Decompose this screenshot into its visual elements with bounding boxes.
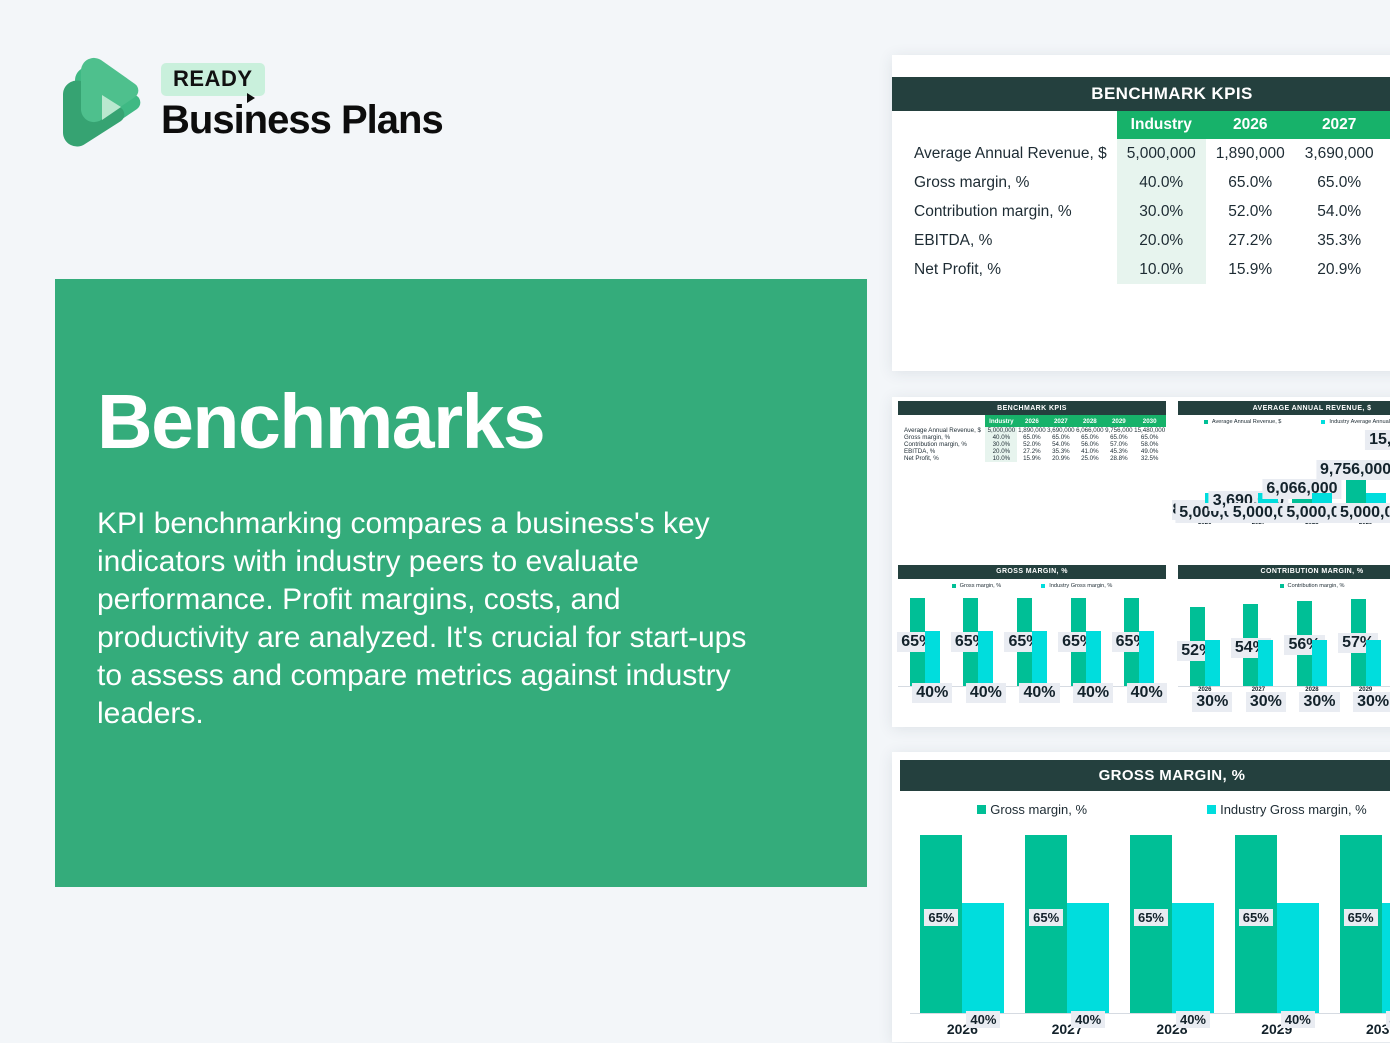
bar: 40% — [978, 631, 993, 685]
bar-value-label: 30% — [1192, 692, 1232, 712]
kpi-cell: 65.0% — [1206, 168, 1295, 197]
kpi-col-2030: 2030 — [1133, 415, 1166, 427]
bar: 65% — [1124, 598, 1139, 686]
benchmark-kpi-card: BENCHMARK KPIS Industry20262027202820292… — [892, 55, 1390, 371]
kpi-row-label: Average Annual Revenue, $ — [900, 139, 1117, 168]
kpi-header-row: Industry20262027202820292030 — [900, 111, 1390, 139]
brand-name-text: Business Plans — [161, 98, 443, 142]
bar-value-label: 40% — [1019, 683, 1059, 703]
bar: 5,000,000 — [1312, 493, 1332, 519]
legend-swatch-cyan — [1041, 584, 1045, 588]
ready-badge: READY — [161, 63, 265, 96]
bar: 40% — [1172, 903, 1214, 1013]
legend-item-gm-industry: Industry Gross margin, % — [1041, 583, 1112, 589]
bar-group: 56%30% — [1297, 601, 1327, 686]
mini-kpi-header-row: Industry20262027202820292030 — [898, 415, 1166, 427]
bar-group: 65%40% — [1071, 598, 1101, 686]
table-row: Net Profit, %10.0%15.9%20.9%25.0%28.8%32… — [898, 455, 1166, 462]
kpi-col-2026: 2026 — [1206, 111, 1295, 139]
kpi-cell: 57.0% — [1104, 441, 1133, 448]
kpi-col-2027: 2027 — [1046, 415, 1075, 427]
kpi-cell: 41.0% — [1384, 226, 1390, 255]
bar: 40% — [1067, 903, 1109, 1013]
table-row: Average Annual Revenue, $5,000,0001,890,… — [898, 427, 1166, 434]
mini-benchmark-kpi-table: Industry20262027202820292030 Average Ann… — [898, 415, 1166, 462]
bar-value-label: 5,000,000 — [1336, 503, 1390, 523]
bar: 30% — [1258, 640, 1273, 686]
hero-panel: Benchmarks KPI benchmarking compares a b… — [55, 279, 867, 887]
page-title: Benchmarks — [97, 384, 787, 461]
kpi-cell: 65.0% — [1104, 434, 1133, 441]
kpi-cell: 65.0% — [1046, 434, 1075, 441]
kpi-cell: 5,000,000 — [985, 427, 1017, 434]
kpi-cell: 27.2% — [1017, 448, 1046, 455]
table-row: Gross margin, %40.0%65.0%65.0%65.0%65.0%… — [898, 434, 1166, 441]
contribution-margin-mini-legend: Contribution margin, % — [1178, 583, 1390, 589]
bar-value-label: 65% — [1239, 909, 1273, 926]
kpi-cell: 10.0% — [985, 455, 1017, 462]
bar-value-label: 40% — [912, 683, 952, 703]
gross-margin-large-plot: 65%40%65%40%65%40%65%40%65%40% — [910, 831, 1390, 1013]
kpi-col-industry: Industry — [1117, 111, 1206, 139]
play-accent-icon — [247, 93, 255, 103]
bar: 30% — [1366, 640, 1381, 686]
kpi-cell: 30.0% — [1117, 197, 1206, 226]
gross-margin-mini-plot: 65%40%65%40%65%40%65%40%65%40% — [898, 594, 1166, 686]
kpi-col-2028: 2028 — [1075, 415, 1104, 427]
bar-value-label: 65% — [1029, 909, 1063, 926]
kpi-cell: 1,890,000 — [1206, 139, 1295, 168]
kpi-cell: 41.0% — [1075, 448, 1104, 455]
kpi-cell: 15.9% — [1017, 455, 1046, 462]
mini-kpi-header-blank — [898, 415, 985, 427]
table-row: Net Profit, %10.0%15.9%20.9%25.0%28.8%32… — [900, 255, 1390, 284]
bar: 30% — [1312, 640, 1327, 686]
bar: 65% — [920, 835, 962, 1013]
revenue-chart-panel: AVERAGE ANNUAL REVENUE, $ Average Annual… — [1172, 397, 1390, 561]
bar: 57% — [1351, 599, 1366, 685]
gross-margin-large-title: GROSS MARGIN, % — [900, 760, 1390, 791]
kpi-cell: 3,690,000 — [1295, 139, 1384, 168]
bar-value-label: 65% — [1344, 909, 1378, 926]
kpi-cell: 65.0% — [1384, 168, 1390, 197]
kpi-cell: 20.9% — [1295, 255, 1384, 284]
bar: 65% — [1130, 835, 1172, 1013]
gross-margin-mini-title: GROSS MARGIN, % — [898, 565, 1166, 579]
bar: 40% — [1277, 903, 1319, 1013]
legend-item-gm: Gross margin, % — [952, 583, 1002, 589]
table-row: Average Annual Revenue, $5,000,0001,890,… — [900, 139, 1390, 168]
bar-group: 65%40% — [1130, 835, 1214, 1013]
kpi-cell: 32.5% — [1133, 455, 1166, 462]
legend-label-gm-industry: Industry Gross margin, % — [1049, 583, 1112, 589]
table-row: Gross margin, %40.0%65.0%65.0%65.0%65.0%… — [900, 168, 1390, 197]
legend-swatch-green — [1204, 420, 1208, 424]
bar-value-label: 30% — [1353, 692, 1390, 712]
bar: 65% — [1071, 598, 1086, 686]
kpi-cell: 6,066,000 — [1075, 427, 1104, 434]
kpi-col-2028: 2028 — [1384, 111, 1390, 139]
kpi-cell: 20.0% — [985, 448, 1017, 455]
kpi-cell: 58.0% — [1133, 441, 1166, 448]
bar-group: 57%30% — [1351, 599, 1381, 685]
kpi-cell: 35.3% — [1046, 448, 1075, 455]
bar-value-label: 40% — [1073, 683, 1113, 703]
bar-value-label: 40% — [966, 1011, 1000, 1028]
legend-item-industry-revenue: Industry Average Annual Revenue, $ — [1321, 419, 1390, 425]
bar-value-label: 9,756,000 — [1316, 460, 1390, 480]
kpi-row-label: Contribution margin, % — [898, 441, 985, 448]
kpi-header-blank — [900, 111, 1117, 139]
kpi-col-2026: 2026 — [1017, 415, 1046, 427]
kpi-cell: 10.0% — [1117, 255, 1206, 284]
kpi-cell: 9,756,000 — [1104, 427, 1133, 434]
kpi-row-label: Gross margin, % — [898, 434, 985, 441]
bar-group: 52%30% — [1190, 607, 1220, 686]
kpi-cell: 20.9% — [1046, 455, 1075, 462]
bar-group: 65%40% — [1025, 835, 1109, 1013]
bar: 52% — [1190, 607, 1205, 686]
bar-value-label: 40% — [1071, 1011, 1105, 1028]
bar: 40% — [1032, 631, 1047, 685]
contribution-margin-mini-panel: CONTRIBUTION MARGIN, % Contribution marg… — [1172, 561, 1390, 728]
kpi-table-title: BENCHMARK KPIS — [892, 77, 1390, 111]
bar: 56% — [1297, 601, 1312, 686]
kpi-row-label: EBITDA, % — [898, 448, 985, 455]
bar: 40% — [1086, 631, 1101, 685]
bar: 54% — [1243, 604, 1258, 686]
revenue-chart-legend: Average Annual Revenue, $ Industry Avera… — [1178, 419, 1390, 425]
kpi-row-label: Contribution margin, % — [900, 197, 1117, 226]
bar: 40% — [925, 631, 940, 685]
kpi-cell: 54.0% — [1295, 197, 1384, 226]
gross-margin-large-legend: Gross margin, % Industry Gross margin, % — [892, 802, 1390, 817]
play-triangle-logo-icon — [55, 52, 143, 150]
kpi-body: Average Annual Revenue, $5,000,0001,890,… — [900, 139, 1390, 284]
kpi-cell: 40.0% — [1117, 168, 1206, 197]
kpi-cell: 27.2% — [1206, 226, 1295, 255]
kpi-cell: 1,890,000 — [1017, 427, 1046, 434]
bar-group: 54%30% — [1243, 604, 1273, 686]
legend-label-cm: Contribution margin, % — [1288, 583, 1345, 589]
benchmark-kpi-table: Industry20262027202820292030 Average Ann… — [900, 111, 1390, 284]
gross-margin-large-card: GROSS MARGIN, % Gross margin, % Industry… — [892, 752, 1390, 1042]
kpi-cell: 5,000,000 — [1117, 139, 1206, 168]
bar: 5,000,000 — [1366, 493, 1386, 519]
legend-item-gm-large: Gross margin, % — [977, 802, 1087, 817]
bar: 65% — [910, 598, 925, 686]
bar: 30% — [1205, 640, 1220, 686]
bar-value-label: 30% — [1246, 692, 1286, 712]
bar: 65% — [1235, 835, 1277, 1013]
revenue-chart-title: AVERAGE ANNUAL REVENUE, $ — [1178, 401, 1390, 415]
legend-label-industry-revenue: Industry Average Annual Revenue, $ — [1329, 419, 1390, 425]
bar-value-label: 40% — [1281, 1011, 1315, 1028]
bar-value-label: 40% — [966, 683, 1006, 703]
kpi-cell: 15,480,000 — [1133, 427, 1166, 434]
kpi-row-label: Gross margin, % — [900, 168, 1117, 197]
gross-margin-mini-legend: Gross margin, % Industry Gross margin, % — [898, 583, 1166, 589]
bar-value-label: 30% — [1299, 692, 1339, 712]
kpi-row-label: Net Profit, % — [898, 455, 985, 462]
kpi-row-label: EBITDA, % — [900, 226, 1117, 255]
kpi-cell: 52.0% — [1017, 441, 1046, 448]
bar-value-label: 40% — [1127, 683, 1167, 703]
kpi-cell: 25.0% — [1075, 455, 1104, 462]
kpi-col-2029: 2029 — [1104, 415, 1133, 427]
kpi-col-2027: 2027 — [1295, 111, 1384, 139]
legend-label-gm: Gross margin, % — [960, 583, 1002, 589]
kpi-row-label: Net Profit, % — [900, 255, 1117, 284]
mini-kpi-body: Average Annual Revenue, $5,000,0001,890,… — [898, 427, 1166, 462]
bar-value-label: 65% — [1134, 909, 1168, 926]
kpi-cell: 56.0% — [1075, 441, 1104, 448]
bar-group: 65%40% — [1017, 598, 1047, 686]
legend-item-cm: Contribution margin, % — [1280, 583, 1345, 589]
legend-label-gm-large-industry: Industry Gross margin, % — [1220, 802, 1367, 817]
kpi-cell: 65.0% — [1075, 434, 1104, 441]
kpi-cell: 6,066,000 — [1384, 139, 1390, 168]
kpi-cell: 45.3% — [1104, 448, 1133, 455]
legend-swatch-cyan — [1321, 420, 1325, 424]
bar-group: 65%40% — [920, 835, 1004, 1013]
table-row: Contribution margin, %30.0%52.0%54.0%56.… — [898, 441, 1166, 448]
bar: 40% — [1139, 631, 1154, 685]
kpi-cell: 65.0% — [1133, 434, 1166, 441]
legend-swatch-green — [1280, 584, 1284, 588]
legend-swatch-green — [977, 805, 986, 814]
kpi-cell: 49.0% — [1133, 448, 1166, 455]
kpi-cell: 56.0% — [1384, 197, 1390, 226]
kpi-cell: 65.0% — [1295, 168, 1384, 197]
legend-label-gm-large: Gross margin, % — [990, 802, 1087, 817]
kpi-cell: 40.0% — [985, 434, 1017, 441]
dashboard-overview-card: BENCHMARK KPIS Industry20262027202820292… — [892, 397, 1390, 727]
bar-group: 65%40% — [963, 598, 993, 686]
brand-name: Business Plans — [161, 100, 443, 140]
bar-group: 65%40% — [910, 598, 940, 686]
bar-value-label: 15,480,000 — [1365, 430, 1390, 450]
brand-logo: READY Business Plans — [55, 52, 443, 150]
kpi-cell: 20.0% — [1117, 226, 1206, 255]
legend-label-revenue: Average Annual Revenue, $ — [1212, 419, 1282, 425]
table-row: EBITDA, %20.0%27.2%35.3%41.0%45.3%49.0% — [900, 226, 1390, 255]
bar-group: 65%40% — [1340, 835, 1390, 1013]
bar: 40% — [962, 903, 1004, 1013]
bar-value-label: 40% — [1386, 1011, 1390, 1028]
gross-margin-mini-panel: GROSS MARGIN, % Gross margin, % Industry… — [892, 561, 1172, 728]
bar-group: 65%40% — [1235, 835, 1319, 1013]
kpi-col-industry: Industry — [985, 415, 1017, 427]
bar: 65% — [963, 598, 978, 686]
legend-swatch-green — [952, 584, 956, 588]
bar: 40% — [1382, 903, 1390, 1013]
contribution-margin-mini-plot: 52%30%54%30%56%30%57%30%58%30% — [1178, 594, 1390, 686]
kpi-cell: 28.8% — [1104, 455, 1133, 462]
kpi-cell: 3,690,000 — [1046, 427, 1075, 434]
contribution-margin-mini-title: CONTRIBUTION MARGIN, % — [1178, 565, 1390, 579]
mini-kpi-title: BENCHMARK KPIS — [898, 401, 1166, 415]
kpi-cell: 35.3% — [1295, 226, 1384, 255]
table-row: EBITDA, %20.0%27.2%35.3%41.0%45.3%49.0% — [898, 448, 1166, 455]
bar-group: 6,066,0005,000,000 — [1292, 488, 1332, 519]
kpi-cell: 52.0% — [1206, 197, 1295, 226]
bar-group: 65%40% — [1124, 598, 1154, 686]
table-row: Contribution margin, %30.0%52.0%54.0%56.… — [900, 197, 1390, 226]
bar: 65% — [1017, 598, 1032, 686]
kpi-cell: 25.0% — [1384, 255, 1390, 284]
kpi-cell: 30.0% — [985, 441, 1017, 448]
bar-value-label: 65% — [924, 909, 958, 926]
legend-swatch-cyan — [1207, 805, 1216, 814]
bar: 65% — [1025, 835, 1067, 1013]
kpi-cell: 54.0% — [1046, 441, 1075, 448]
kpi-cell: 65.0% — [1017, 434, 1046, 441]
mini-kpi-table-panel: BENCHMARK KPIS Industry20262027202820292… — [892, 397, 1172, 561]
hero-description: KPI benchmarking compares a business's k… — [97, 505, 757, 734]
kpi-cell: 15.9% — [1206, 255, 1295, 284]
bar-group: 9,756,0005,000,000 — [1346, 469, 1386, 519]
legend-item-gm-large-industry: Industry Gross margin, % — [1207, 802, 1367, 817]
bar: 65% — [1340, 835, 1382, 1013]
bar-value-label: 40% — [1176, 1011, 1210, 1028]
legend-item-revenue: Average Annual Revenue, $ — [1204, 419, 1282, 425]
revenue-chart-plot: 1,890,0005,000,0003,690,0005,000,0006,06… — [1178, 431, 1390, 519]
kpi-row-label: Average Annual Revenue, $ — [898, 427, 985, 434]
